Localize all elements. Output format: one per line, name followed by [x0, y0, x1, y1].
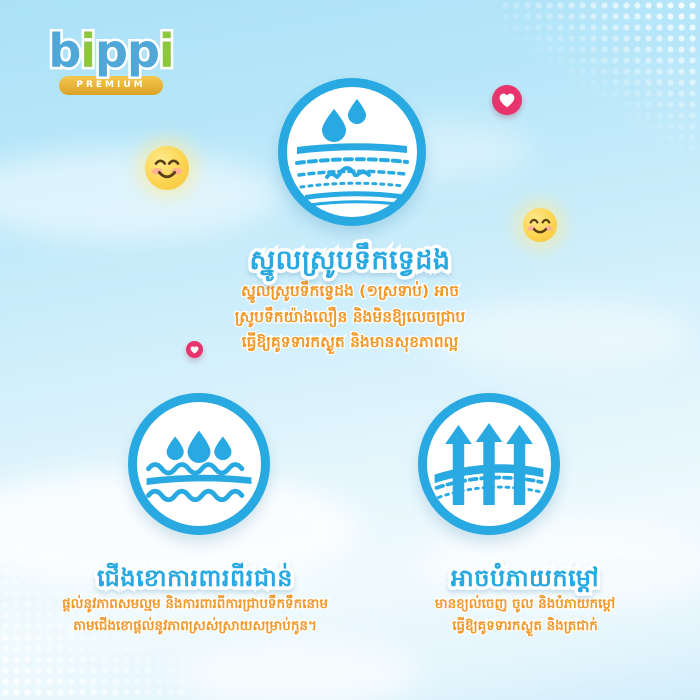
promo-poster: bippi PREMIUM ស្នូលស្រូបទឹកទ [0, 0, 700, 700]
smiley-face-icon [145, 146, 189, 190]
premium-badge: PREMIUM [59, 76, 163, 95]
feature-text-absorb-core: ស្នូលស្រូបទឹកទ្វេដង ស្នូលស្រូបទឹកទ្វេដង … [150, 243, 550, 355]
upward-airflow-arrows-icon [427, 402, 551, 526]
logo-letter-p2: p [127, 28, 159, 74]
feature-text-double-leg-cuff: ជើងខោការពារពីរជាន់ ផ្តល់នូវភាពសមល្មម និង… [20, 562, 370, 638]
heading-wrap: ជើងខោការពារពីរជាន់ [20, 562, 370, 594]
heading-wrap: ស្នូលស្រូបទឹកទ្វេដង [150, 243, 550, 279]
brand-logo: bippi PREMIUM [36, 28, 186, 95]
feature-body-line: ស្រូបទឹកយ៉ាងលឿន និងមិនឱ្យលេចជ្រាប [150, 305, 550, 330]
feature-icon-double-leg-cuff [128, 393, 270, 535]
feature-heading-breathable: អាចបំភាយកម្ដៅ [360, 562, 690, 594]
cloud-decoration [180, 640, 420, 700]
feature-body-line: ធ្វើឱ្យគូទទារកស្ងួត និងត្រជាក់ [360, 616, 690, 638]
feature-body-line: តាមជើងខោផ្តល់នូវភាពស្រស់ស្រាយសម្រាប់កូន។ [20, 616, 370, 638]
logo-letter-p1: p [95, 28, 127, 74]
logo-letter-b: b [48, 28, 80, 74]
halftone-dots-top-right [500, 0, 700, 150]
heart-icon [499, 93, 515, 108]
smiley-face-emoji [523, 208, 557, 242]
water-droplets-absorbing-layers-icon [287, 87, 417, 217]
smiley-face-icon [523, 208, 557, 242]
brand-logo-wordmark: bippi [36, 28, 186, 74]
feature-heading-double-leg-cuff: ជើងខោការពារពីរជាន់ [20, 562, 370, 594]
feature-icon-breathable [418, 393, 560, 535]
logo-letter-i2: i [159, 28, 174, 74]
feature-heading-absorb-core: ស្នូលស្រូបទឹកទ្វេដង [150, 243, 550, 279]
smiley-face-emoji [145, 146, 189, 190]
heading-wrap: អាចបំភាយកម្ដៅ [360, 562, 690, 594]
heart-icon [190, 346, 199, 354]
logo-letter-i: i [80, 28, 95, 74]
feature-body-line: ស្នូលស្រូបទឹកទ្វេដង (១ស្រទាប់) អាច [150, 279, 550, 304]
cloud-decoration [0, 150, 280, 240]
feature-text-breathable: អាចបំភាយកម្ដៅ មានខ្យល់ចេញ ចូល និងបំភាយកម… [360, 562, 690, 638]
feature-body-line: ធ្វើឱ្យគូទទារកស្ងួត និងមានសុខភាពល្អ [150, 330, 550, 355]
heart-reaction-badge [492, 85, 522, 115]
feature-body-line: ផ្តល់នូវភាពសមល្មម និងការពារពីការជ្រាបទឹក… [20, 594, 370, 616]
feature-body-line: មានខ្យល់ចេញ ចូល និងបំភាយកម្ដៅ [360, 594, 690, 616]
heart-reaction-badge-small [186, 341, 203, 358]
droplets-over-wavy-barrier-icon [137, 402, 261, 526]
feature-icon-absorb-core [278, 78, 426, 226]
